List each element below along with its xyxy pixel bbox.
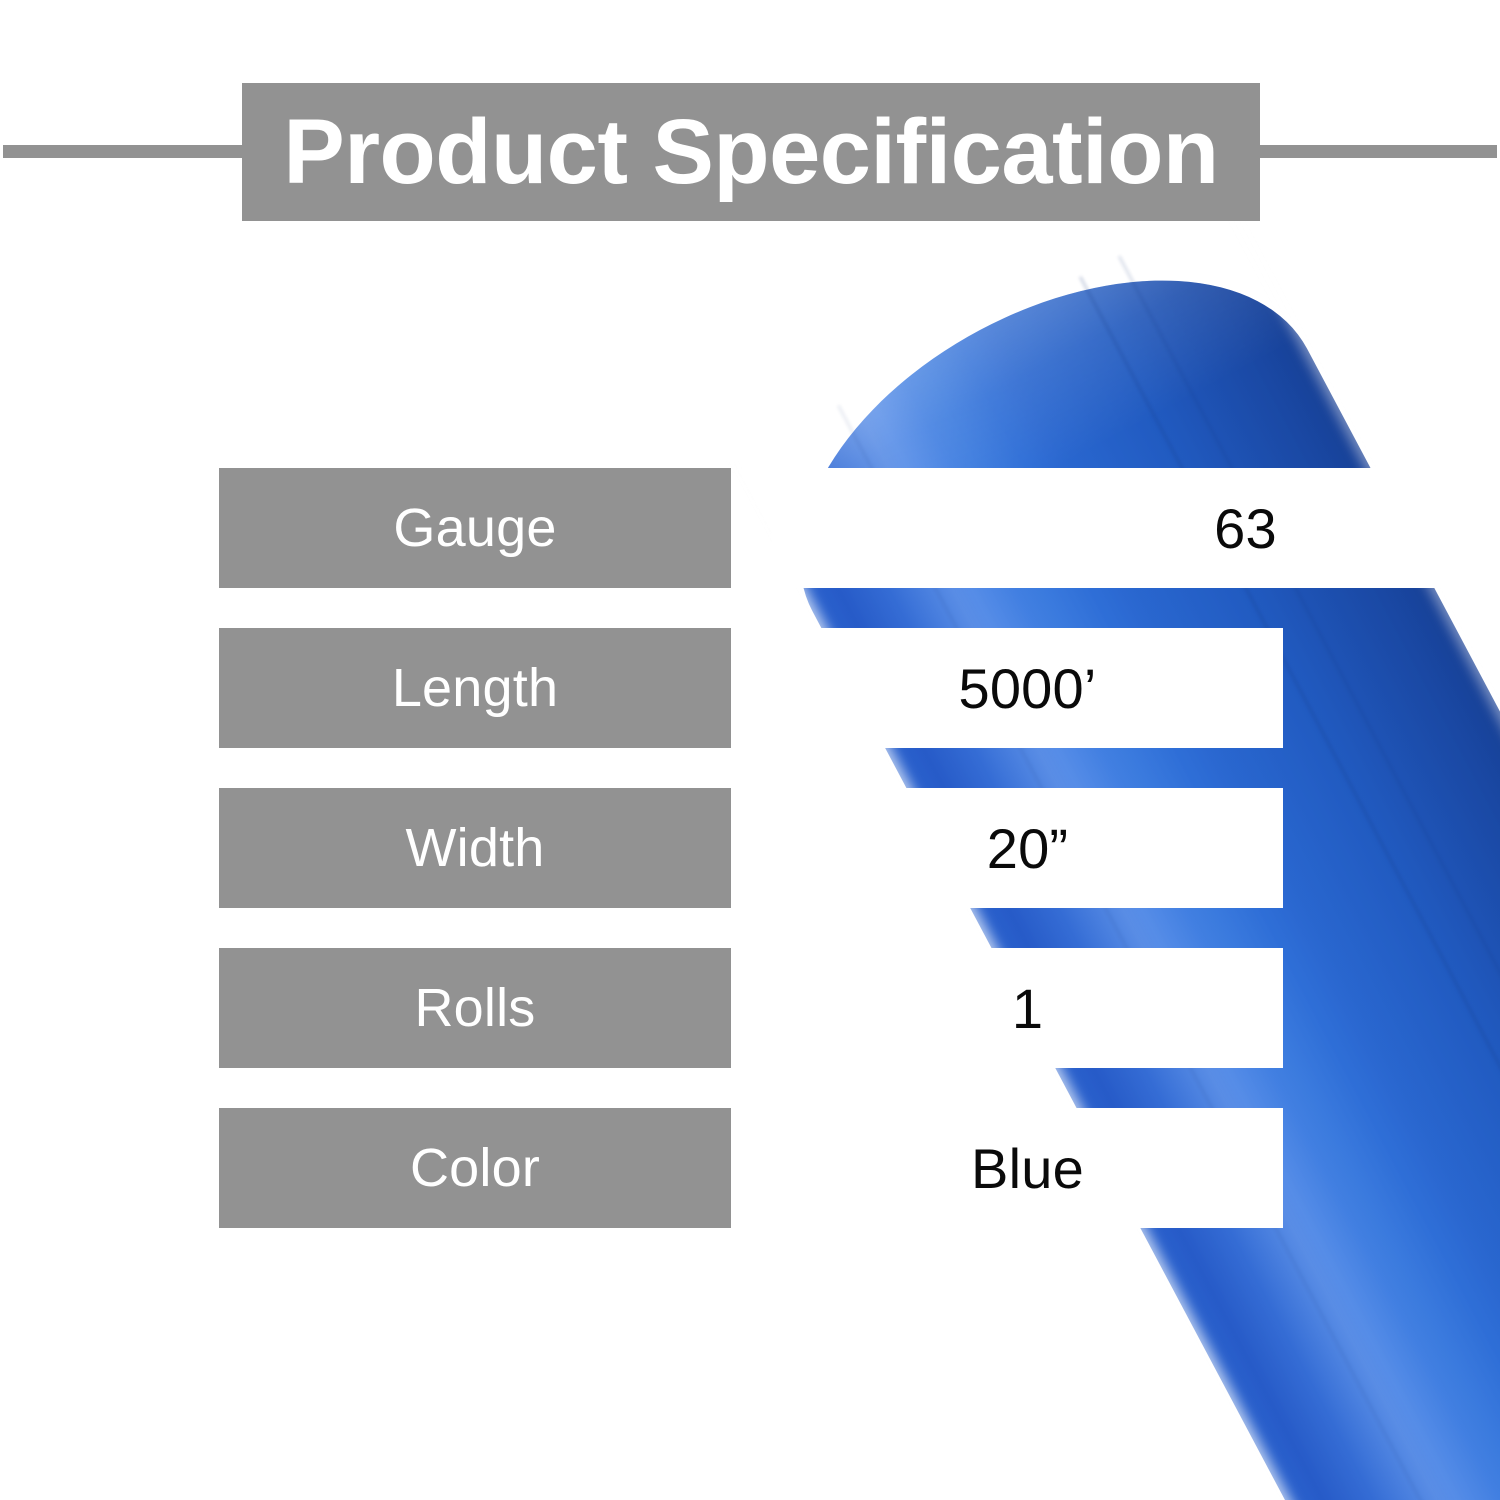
spec-value-width: 20” [772, 788, 1283, 908]
header-rule-left [3, 145, 246, 158]
page-title: Product Specification [283, 106, 1218, 198]
spec-value-gauge: 63 [772, 468, 1500, 588]
spec-label-width: Width [219, 788, 731, 908]
product-specification-page: Product Specification Gauge 63 Length 50… [0, 0, 1500, 1500]
spec-label-color: Color [219, 1108, 731, 1228]
spec-row-length: Length 5000’ [219, 628, 1283, 748]
specification-table: Gauge 63 Length 5000’ Width 20” Rolls 1 … [219, 468, 1283, 1228]
spec-value-color: Blue [772, 1108, 1283, 1228]
page-header: Product Specification [0, 83, 1500, 221]
spec-label-length: Length [219, 628, 731, 748]
spec-row-gauge: Gauge 63 [219, 468, 1283, 588]
spec-label-rolls: Rolls [219, 948, 731, 1068]
spec-value-rolls: 1 [772, 948, 1283, 1068]
header-banner: Product Specification [242, 83, 1260, 221]
spec-row-rolls: Rolls 1 [219, 948, 1283, 1068]
spec-label-gauge: Gauge [219, 468, 731, 588]
header-rule-right [1253, 145, 1497, 158]
spec-row-width: Width 20” [219, 788, 1283, 908]
spec-row-color: Color Blue [219, 1108, 1283, 1228]
spec-value-length: 5000’ [772, 628, 1283, 748]
